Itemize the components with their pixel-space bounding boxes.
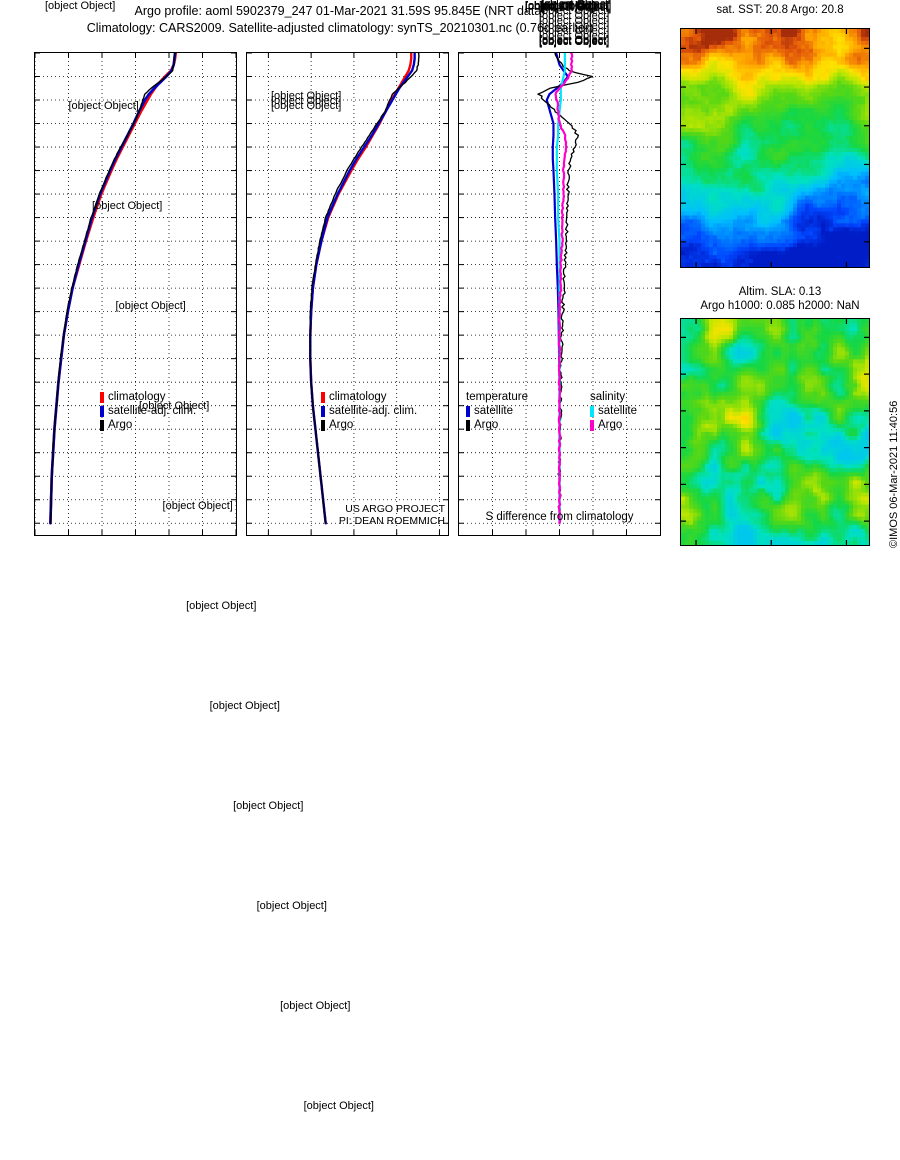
salinity-profile-panel [246, 52, 449, 536]
tick-label: [object Object] [539, 36, 609, 48]
temperature-plot-area [35, 53, 236, 535]
legend-label-satellite-adj: satellite-adj. clim. [329, 404, 417, 418]
legend-item-argo: Argo [321, 418, 417, 432]
legend-swatch-salinity-argo [590, 420, 594, 431]
legend-swatch-climatology [100, 392, 104, 403]
tick-label: [object Object] [116, 300, 186, 312]
legend-label-salinity-satellite: satellite [598, 404, 637, 418]
legend-swatch-temperature-argo [466, 420, 470, 431]
difference-profile-panel [458, 52, 661, 536]
sst-map-panel [680, 28, 870, 268]
sst-map-image [681, 29, 869, 267]
tick-label: [object Object] [45, 0, 115, 12]
tick-label: [object Object] [186, 600, 256, 612]
legend-heading-salinity: salinity [590, 390, 637, 404]
sst-map-title: sat. SST: 20.8 Argo: 20.8 [660, 4, 900, 16]
legend-swatch-climatology [321, 392, 325, 403]
salinity-legend: climatology satellite-adj. clim. Argo [321, 390, 417, 432]
tick-label: [object Object] [304, 1100, 374, 1112]
tick-label: [object Object] [280, 1000, 350, 1012]
legend-swatch-satellite-adj [321, 406, 325, 417]
legend-label-argo: Argo [329, 418, 353, 432]
legend-label-argo: Argo [108, 418, 132, 432]
tick-label: [object Object] [257, 900, 327, 912]
legend-label-temperature-satellite: satellite [474, 404, 513, 418]
sla-map-panel [680, 318, 870, 546]
tick-label: [object Object] [271, 100, 341, 112]
legend-label-climatology: climatology [329, 390, 387, 404]
legend-item-salinity-argo: Argo [590, 418, 637, 432]
legend-item-temperature-argo: Argo [466, 418, 528, 432]
project-credit-line2: PI: DEAN ROEMMICH [290, 515, 445, 527]
sla-map-title-line1: Altim. SLA: 0.13 [660, 286, 900, 298]
project-credit-line1: US ARGO PROJECT [290, 503, 445, 515]
legend-item-satellite-adj: satellite-adj. clim. [321, 404, 417, 418]
legend-item-temperature-satellite: satellite [466, 404, 528, 418]
difference-legend-temperature: temperature satellite Argo [466, 390, 528, 432]
difference-legend-salinity: salinity satellite Argo [590, 390, 637, 432]
legend-item-salinity-satellite: satellite [590, 404, 637, 418]
legend-item-argo: Argo [100, 418, 196, 432]
tick-label: [object Object] [163, 500, 233, 512]
sla-map-title-line2: Argo h1000: 0.085 h2000: NaN [660, 300, 900, 312]
difference-axis-label: S difference from climatology [458, 511, 661, 523]
legend-heading-temperature: temperature [466, 390, 528, 404]
sla-map-image [681, 319, 869, 545]
legend-label-temperature-argo: Argo [474, 418, 498, 432]
tick-label: [object Object] [541, 2, 611, 14]
project-credit: US ARGO PROJECT PI: DEAN ROEMMICH [290, 503, 445, 527]
legend-swatch-argo [321, 420, 325, 431]
legend-label-salinity-argo: Argo [598, 418, 622, 432]
legend-swatch-temperature-satellite [466, 406, 470, 417]
tick-label: [object Object] [210, 700, 280, 712]
tick-label: [object Object] [69, 100, 139, 112]
copyright-text: ©IMOS 06-Mar-2021 11:40:56 [888, 401, 900, 548]
temperature-profile-panel [34, 52, 237, 536]
difference-plot-area [459, 53, 660, 535]
tick-label: [object Object] [233, 800, 303, 812]
legend-swatch-salinity-satellite [590, 406, 594, 417]
tick-label: [object Object] [139, 400, 209, 412]
legend-item-climatology: climatology [321, 390, 417, 404]
legend-swatch-satellite-adj [100, 406, 104, 417]
salinity-plot-area [247, 53, 448, 535]
legend-swatch-argo [100, 420, 104, 431]
tick-label: [object Object] [92, 200, 162, 212]
